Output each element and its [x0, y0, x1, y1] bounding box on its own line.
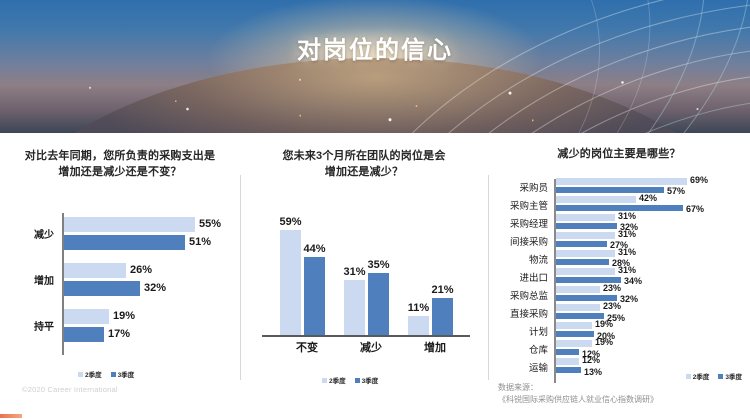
chart-3-bar-q2: 31%	[556, 250, 750, 257]
chart-3-bar-q3: 34%	[556, 277, 750, 284]
chart-question-2: 您未来3个月所在团队的岗位是会 增加还是减少？	[240, 133, 488, 180]
chart-1-group: 减少 55% 51%	[0, 213, 240, 257]
chart-2: 59% 44% 31%	[240, 211, 488, 371]
chart-panel-headcount: 您未来3个月所在团队的岗位是会 增加还是减少？ 59% 44%	[240, 133, 488, 180]
chart-3-bar-q2: 19%	[556, 322, 750, 329]
chart-2-axis	[262, 335, 470, 337]
chart-3-bar-q3: 25%	[556, 313, 750, 320]
chart-3-bar-q3: 27%	[556, 241, 750, 248]
charts-area: 对比去年同期，您所负责的采购支出是 增加还是减少还是不变？ 减少 55%	[0, 133, 750, 419]
copyright-text: ©2020 Career International	[22, 385, 118, 394]
question-1-line1: 对比去年同期，您所负责的采购支出是	[0, 148, 240, 164]
chart-panel-spend: 对比去年同期，您所负责的采购支出是 增加还是减少还是不变？ 减少 55%	[0, 133, 240, 180]
chart-2-group: 59% 44%	[278, 217, 336, 335]
legend-label-q2: 2季度	[693, 371, 710, 381]
chart-3-bar-q2: 12%	[556, 358, 750, 365]
chart-1-value-label: 19%	[113, 309, 135, 324]
chart-3-bar-q2: 69%	[556, 178, 750, 185]
legend-label-q2: 2季度	[85, 369, 102, 379]
chart-3-bar-q3: 32%	[556, 223, 750, 230]
chart-3-category-label: 间接采购	[488, 234, 548, 248]
chart-2-value-label: 31%	[343, 266, 365, 278]
legend-item-q3[interactable]: 3季度	[111, 369, 135, 379]
chart-1-group: 增加 26% 32%	[0, 259, 240, 303]
chart-3-bar-q2: 23%	[556, 286, 750, 293]
chart-1-value-label: 17%	[108, 327, 130, 342]
chart-1-bar-q2: 19%	[64, 309, 240, 324]
chart-3-category-label: 采购总监	[488, 288, 548, 302]
chart-3-bar-q2: 31%	[556, 268, 750, 275]
legend-swatch-q3	[718, 374, 723, 379]
chart-1-bar-q3: 51%	[64, 235, 240, 250]
chart-3-row: 计划 19% 20%	[488, 321, 750, 339]
chart-2-value-label: 21%	[431, 284, 453, 296]
legend-label-q3: 3季度	[362, 375, 379, 385]
chart-panel-roles: 减少的岗位主要是哪些？ 采购员 69% 57% 采购主管	[488, 133, 750, 162]
chart-2-value-label: 35%	[367, 259, 389, 271]
chart-3-category-label: 物流	[488, 252, 548, 266]
legend-swatch-q2	[78, 372, 83, 377]
chart-3-value-label: 42%	[639, 192, 657, 205]
chart-3-category-label: 采购员	[488, 180, 548, 194]
chart-3-category-label: 仓库	[488, 342, 548, 356]
legend-item-q3[interactable]: 3季度	[355, 375, 379, 385]
chart-3-bar-q2: 42%	[556, 196, 750, 203]
header-banner: 对岗位的信心	[0, 0, 750, 133]
chart-3-legend: 2季度 3季度	[686, 371, 742, 381]
chart-1-value-label: 51%	[189, 235, 211, 250]
chart-1-bar-q2: 55%	[64, 217, 240, 232]
chart-2-value-label: 11%	[408, 302, 429, 314]
chart-2-group: 11% 21%	[406, 217, 464, 335]
chart-3-category-label: 直接采购	[488, 306, 548, 320]
chart-3-value-label: 13%	[584, 366, 602, 379]
chart-2-value-label: 59%	[279, 216, 301, 228]
chart-1-bar-q3: 17%	[64, 327, 240, 342]
legend-swatch-q3	[111, 372, 116, 377]
chart-3-bar-q3: 67%	[556, 205, 750, 212]
chart-3-row: 仓库 19% 12%	[488, 339, 750, 357]
chart-2-category-label: 增加	[406, 339, 464, 355]
legend-label-q3: 3季度	[118, 369, 135, 379]
question-2-line2: 增加还是减少？	[240, 164, 488, 180]
legend-item-q2[interactable]: 2季度	[78, 369, 102, 379]
chart-3-category-label: 运输	[488, 360, 548, 374]
chart-2-group: 31% 35%	[342, 217, 400, 335]
slide: 对岗位的信心 对比去年同期，您所负责的采购支出是 增加还是减少还是不变？ 减少	[0, 0, 750, 419]
legend-item-q3[interactable]: 3季度	[718, 371, 742, 381]
chart-3-bar-q2: 31%	[556, 232, 750, 239]
data-source: 数据来源： 《科锐国际采购供应链人就业信心指数调研》	[498, 382, 658, 406]
chart-3-bar-q3: 20%	[556, 331, 750, 338]
chart-1-bar-q3: 32%	[64, 281, 240, 296]
chart-1-category-label: 增加	[8, 272, 54, 287]
page-title: 对岗位的信心	[0, 30, 750, 65]
chart-3-category-label: 计划	[488, 324, 548, 338]
chart-1-value-label: 55%	[199, 217, 221, 232]
chart-3-row: 直接采购 23% 25%	[488, 303, 750, 321]
chart-1-value-label: 32%	[144, 281, 166, 296]
question-1-line2: 增加还是减少还是不变？	[0, 164, 240, 180]
chart-2-category-label: 减少	[342, 339, 400, 355]
chart-3: 采购员 69% 57% 采购主管 42% 67%	[488, 177, 750, 401]
chart-1-category-label: 减少	[8, 226, 54, 241]
chart-1-value-label: 26%	[130, 263, 152, 278]
chart-3-category-label: 采购经理	[488, 216, 548, 230]
chart-3-bar-q2: 31%	[556, 214, 750, 221]
legend-swatch-q3	[355, 378, 360, 383]
chart-3-category-label: 进出口	[488, 270, 548, 284]
data-source-value: 《科锐国际采购供应链人就业信心指数调研》	[498, 394, 658, 406]
chart-1: 减少 55% 51% 增加	[0, 213, 240, 363]
chart-3-value-label: 69%	[690, 174, 708, 187]
chart-question-1: 对比去年同期，您所负责的采购支出是 增加还是减少还是不变？	[0, 133, 240, 180]
chart-2-category-label: 不变	[278, 339, 336, 355]
chart-1-category-label: 持平	[8, 318, 54, 333]
legend-label-q2: 2季度	[329, 375, 346, 385]
legend-label-q3: 3季度	[725, 371, 742, 381]
chart-3-row: 采购员 69% 57%	[488, 177, 750, 195]
chart-2-legend: 2季度 3季度	[322, 375, 378, 385]
question-2-line1: 您未来3个月所在团队的岗位是会	[240, 148, 488, 164]
chart-3-value-label: 23%	[603, 282, 621, 295]
accent-mark	[0, 414, 22, 418]
chart-3-bar-q2: 19%	[556, 340, 750, 347]
chart-1-group: 持平 19% 17%	[0, 305, 240, 349]
chart-3-bar-q3: 28%	[556, 259, 750, 266]
chart-1-legend: 2季度 3季度	[78, 369, 134, 379]
data-source-label: 数据来源：	[498, 382, 658, 394]
chart-3-bar-q2: 23%	[556, 304, 750, 311]
legend-item-q2[interactable]: 2季度	[686, 371, 710, 381]
legend-item-q2[interactable]: 2季度	[322, 375, 346, 385]
chart-1-bar-q2: 26%	[64, 263, 240, 278]
chart-3-bar-q3: 32%	[556, 295, 750, 302]
chart-3-category-label: 采购主管	[488, 198, 548, 212]
legend-swatch-q2	[686, 374, 691, 379]
network-arcs-icon	[280, 0, 750, 133]
chart-question-3: 减少的岗位主要是哪些？	[488, 133, 750, 162]
chart-2-value-label: 44%	[303, 243, 325, 255]
legend-swatch-q2	[322, 378, 327, 383]
